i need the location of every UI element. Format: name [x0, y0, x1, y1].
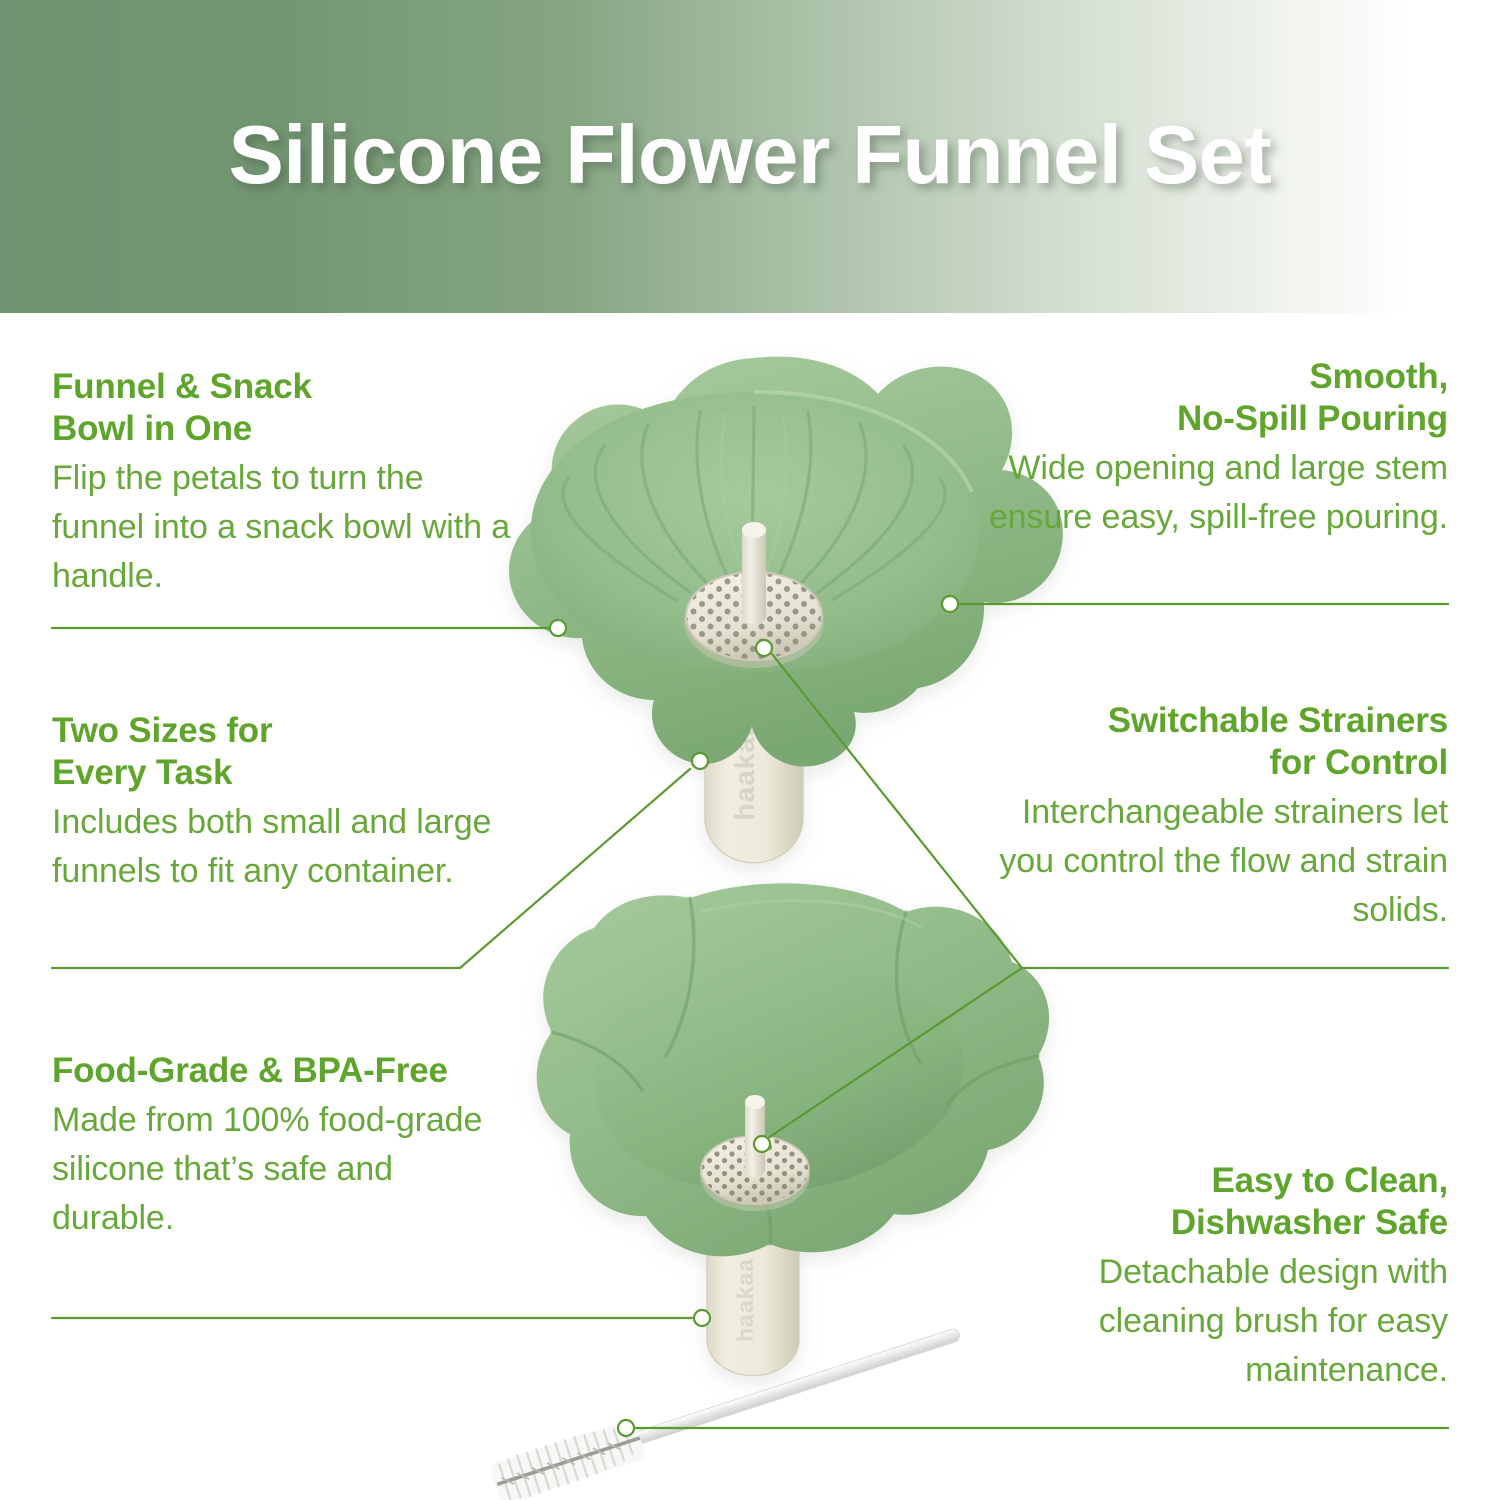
small-funnel-stem: haakaa: [707, 1243, 799, 1376]
brush-bristles: [488, 1417, 646, 1500]
feature-switchable-strainers: Switchable Strainersfor Control Intercha…: [978, 700, 1448, 935]
feature-title: Food-Grade & BPA-Free: [52, 1050, 522, 1092]
feature-easy-to-clean: Easy to Clean,Dishwasher Safe Detachable…: [978, 1160, 1448, 1395]
feature-title: Funnel & SnackBowl in One: [52, 366, 522, 450]
feature-food-grade-bpa-free: Food-Grade & BPA-Free Made from 100% foo…: [52, 1050, 522, 1243]
small-funnel: haakaa: [537, 883, 1049, 1375]
svg-text:haakaa: haakaa: [732, 1258, 758, 1342]
feature-title: Smooth,No-Spill Pouring: [978, 356, 1448, 440]
feature-funnel-snack-bowl: Funnel & SnackBowl in One Flip the petal…: [52, 366, 522, 601]
feature-title: Easy to Clean,Dishwasher Safe: [978, 1160, 1448, 1244]
feature-smooth-no-spill-pouring: Smooth,No-Spill Pouring Wide opening and…: [978, 356, 1448, 542]
feature-two-sizes: Two Sizes forEvery Task Includes both sm…: [52, 710, 522, 896]
feature-body: Detachable design with cleaning brush fo…: [978, 1248, 1448, 1395]
feature-body: Includes both small and large funnels to…: [52, 798, 522, 896]
feature-title: Switchable Strainersfor Control: [978, 700, 1448, 784]
feature-body: Wide opening and large stem ensure easy,…: [978, 444, 1448, 542]
feature-title: Two Sizes forEvery Task: [52, 710, 522, 794]
feature-body: Flip the petals to turn the funnel into …: [52, 454, 522, 601]
infographic-canvas: Silicone Flower Funnel Set: [0, 0, 1500, 1500]
feature-body: Interchangeable strainers let you contro…: [978, 788, 1448, 935]
feature-body: Made from 100% food-grade silicone that’…: [52, 1096, 522, 1243]
